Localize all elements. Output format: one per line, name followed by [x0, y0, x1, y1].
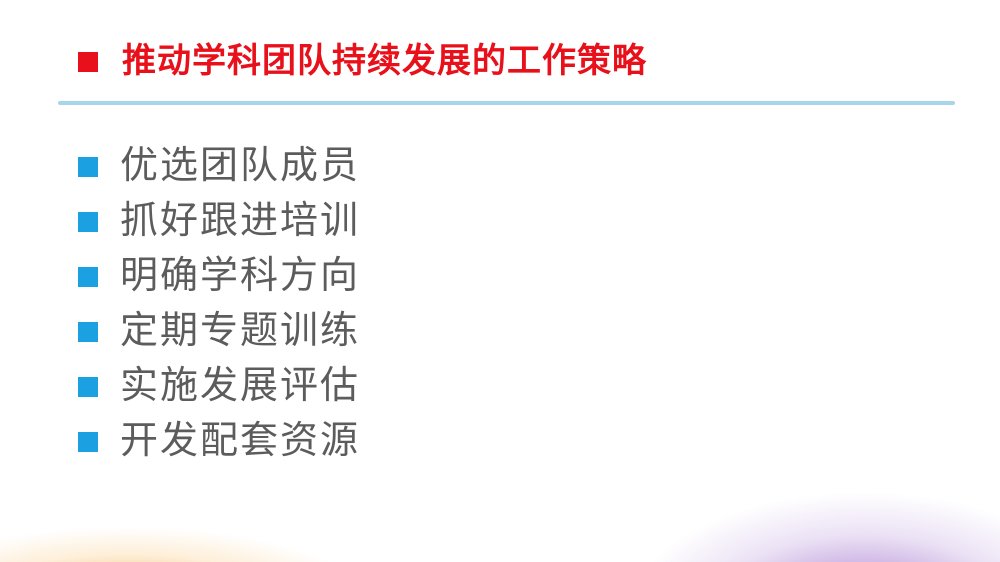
list-item: 优选团队成员 [78, 138, 360, 193]
list-item: 抓好跟进培训 [78, 193, 360, 248]
list-item-label: 优选团队成员 [120, 147, 360, 185]
list-item: 实施发展评估 [78, 358, 360, 413]
blue-square-bullet-icon [78, 267, 98, 287]
blue-square-bullet-icon [78, 322, 98, 342]
wash-violet-glow [630, 332, 1000, 562]
bullet-list: 优选团队成员 抓好跟进培训 明确学科方向 定期专题训练 实施发展评估 开发配套资 [78, 138, 360, 468]
list-item-label: 定期专题训练 [120, 312, 360, 350]
slide-title: 推动学科团队持续发展的工作策略 [78, 44, 647, 78]
list-item: 开发配套资源 [78, 413, 360, 468]
wash-green-glow [420, 432, 800, 562]
list-item-label: 抓好跟进培训 [120, 202, 360, 240]
blue-square-bullet-icon [78, 157, 98, 177]
red-square-bullet-icon [78, 52, 98, 72]
title-underline [58, 101, 955, 105]
slide-canvas: 推动学科团队持续发展的工作策略 优选团队成员 抓好跟进培训 明确学科方向 定期专… [0, 0, 1000, 562]
blue-square-bullet-icon [78, 212, 98, 232]
blue-square-bullet-icon [78, 432, 98, 452]
list-item: 定期专题训练 [78, 303, 360, 358]
list-item: 明确学科方向 [78, 248, 360, 303]
list-item-label: 实施发展评估 [120, 367, 360, 405]
list-item-label: 明确学科方向 [120, 257, 360, 295]
wash-cyan-glow [380, 382, 940, 562]
list-item-label: 开发配套资源 [120, 422, 360, 460]
blue-square-bullet-icon [78, 377, 98, 397]
slide-title-text: 推动学科团队持续发展的工作策略 [122, 44, 647, 78]
